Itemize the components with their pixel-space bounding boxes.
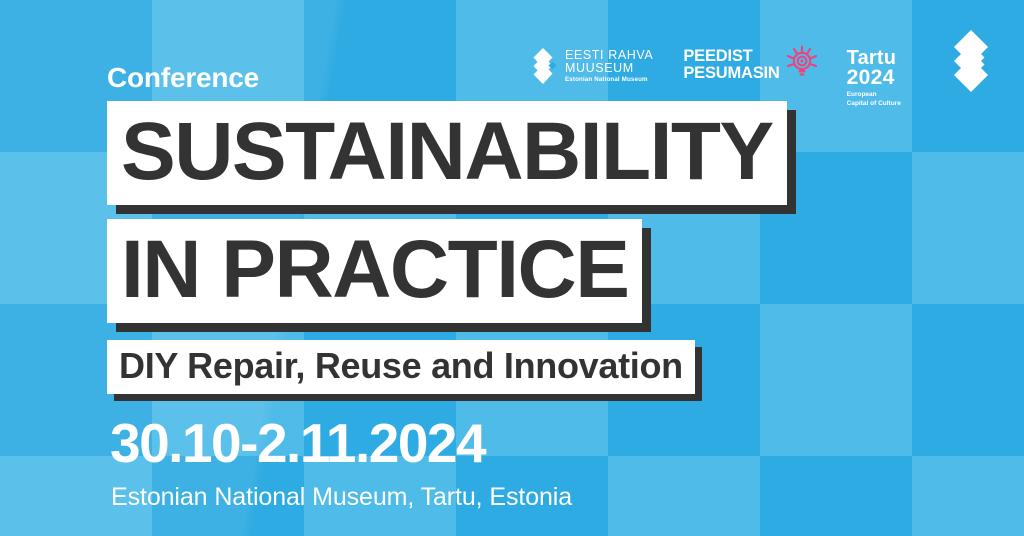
event-venue: Estonian National Museum, Tartu, Estonia [111,485,1024,510]
erm-line-1: EESTI RAHVA [565,49,653,62]
title-plaque-line-2: IN PRACTICE [107,219,642,323]
conference-banner: EESTI RAHVA MUUSEUM Estonian National Mu… [0,0,1024,536]
page-title-line-2: IN PRACTICE [107,219,642,323]
page-title-line-1: SUSTAINABILITY [107,101,787,205]
banner-content: Conference SUSTAINABILITY IN PRACTICE DI… [107,62,1024,510]
event-dates: 30.10-2.11.2024 [110,416,1024,471]
title-plaque-line-1: SUSTAINABILITY [107,101,787,205]
page-subtitle: DIY Repair, Reuse and Innovation [107,340,695,394]
subtitle-plaque: DIY Repair, Reuse and Innovation [107,340,695,394]
conference-kicker: Conference [107,62,1024,94]
